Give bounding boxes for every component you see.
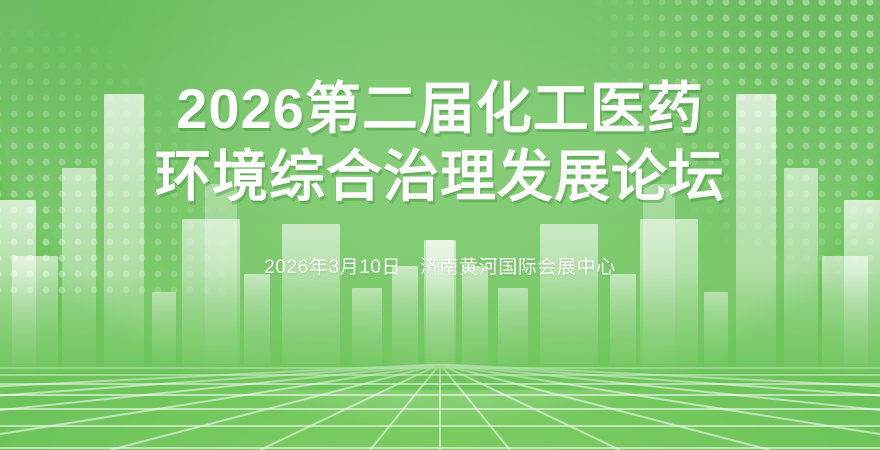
grid-line-vertical (0, 364, 440, 450)
grid-line-vertical (370, 364, 440, 450)
grid-line-vertical (440, 364, 880, 450)
grid-line-vertical (0, 364, 440, 450)
grid-line-vertical (0, 364, 440, 450)
grid-line-vertical (440, 364, 880, 450)
banner-content: 2026第二届化工医药 环境综合治理发展论坛 2026年3月10日 · 济南黄河… (0, 0, 880, 279)
grid-line-vertical (440, 364, 510, 450)
grid-line-vertical (440, 364, 620, 450)
grid-line-vertical (440, 364, 770, 450)
grid-line-vertical (0, 364, 440, 450)
event-banner: 2026第二届化工医药 环境综合治理发展论坛 2026年3月10日 · 济南黄河… (0, 0, 880, 450)
grid-line-vertical (440, 364, 880, 450)
banner-title-line-2: 环境综合治理发展论坛 (0, 140, 880, 208)
banner-title-line-1: 2026第二届化工医药 (0, 0, 880, 140)
perspective-grid-floor (0, 364, 880, 450)
grid-floor-icon (0, 364, 880, 450)
grid-line-vertical (110, 364, 440, 450)
banner-subtitle: 2026年3月10日 · 济南黄河国际会展中心 (0, 208, 880, 279)
grid-line-vertical (440, 364, 880, 450)
grid-line-vertical (260, 364, 440, 450)
